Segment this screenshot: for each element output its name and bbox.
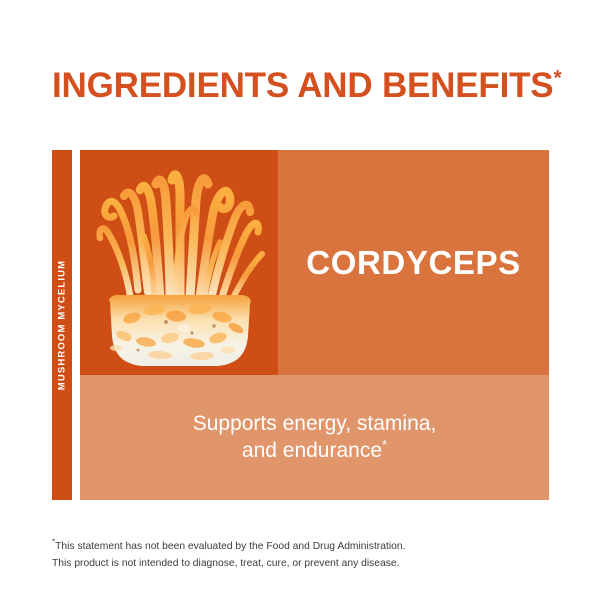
benefit-text: Supports energy, stamina, and endurance*	[80, 375, 549, 500]
page-title-text: INGREDIENTS AND BENEFITS	[52, 66, 553, 105]
legal-disclaimer: *This statement has not been evaluated b…	[52, 539, 482, 572]
page-title: INGREDIENTS AND BENEFITS*	[52, 68, 561, 103]
cordyceps-mushroom-photo	[80, 150, 278, 375]
page-title-asterisk: *	[553, 66, 561, 89]
benefit-line-2: and endurance	[242, 439, 382, 462]
benefit-asterisk: *	[382, 437, 387, 452]
disclaimer-line-1: *This statement has not been evaluated b…	[52, 539, 482, 556]
category-bar: MUSHROOM MYCELIUM	[52, 150, 72, 500]
disclaimer-line-2: This product is not intended to diagnose…	[52, 556, 482, 573]
disclaimer-line-1-text: This statement has not been evaluated by…	[55, 541, 405, 552]
product-name: CORDYCEPS	[278, 150, 549, 375]
category-bar-label: MUSHROOM MYCELIUM	[57, 260, 68, 390]
benefit-line-1: Supports energy, stamina,	[193, 412, 437, 435]
ingredient-card: CORDYCEPS Supports energy, stamina, and …	[80, 150, 549, 500]
